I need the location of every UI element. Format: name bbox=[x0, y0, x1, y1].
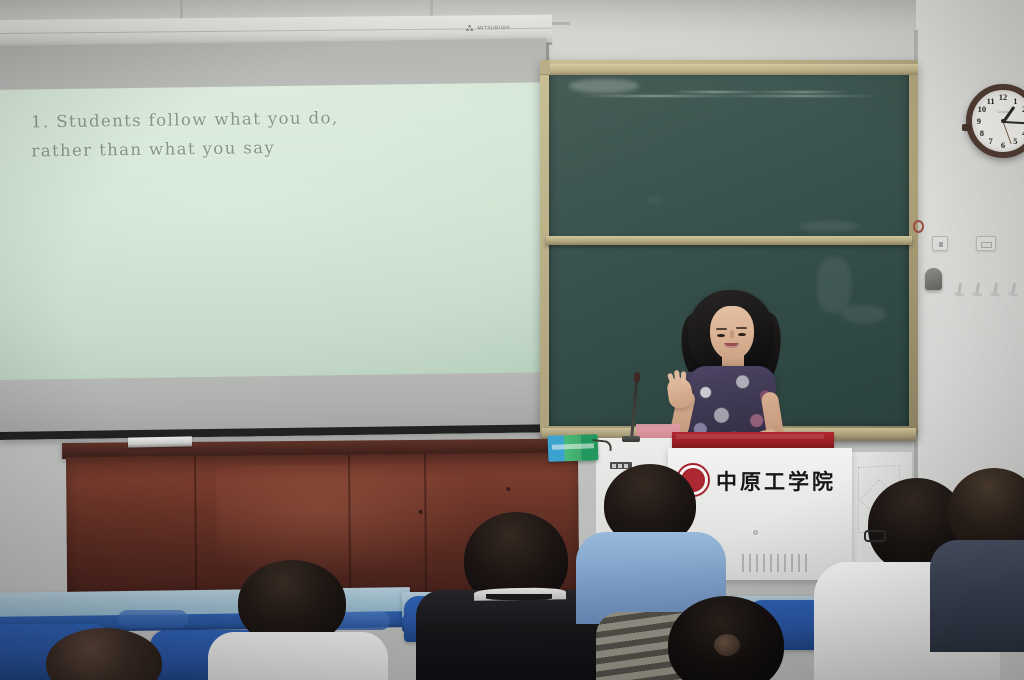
chalk-smudge bbox=[645, 197, 663, 203]
student-ponytail bbox=[648, 596, 808, 680]
classroom-photo: MITSUBISHI 1. Students follow what you d… bbox=[0, 0, 1024, 680]
clock-numeral: 8 bbox=[980, 128, 984, 138]
desk-panel-seam bbox=[194, 456, 197, 596]
microphone-capsule-icon bbox=[634, 372, 641, 383]
glasses-icon bbox=[864, 530, 886, 542]
finger bbox=[681, 371, 686, 384]
chalk-smudge bbox=[841, 305, 887, 323]
finger bbox=[674, 370, 681, 384]
coat-hook-rail bbox=[958, 283, 1024, 299]
student-torso bbox=[208, 632, 388, 680]
chalk-smear bbox=[669, 91, 849, 93]
clock-knob bbox=[962, 124, 971, 131]
clock-numeral: 5 bbox=[1013, 136, 1017, 146]
desk-knob[interactable] bbox=[418, 510, 422, 514]
clock-numeral: 11 bbox=[987, 96, 995, 106]
podium-vent-slots bbox=[742, 554, 822, 572]
projector-brand-label: MITSUBISHI bbox=[477, 25, 510, 31]
wall-outlet-plate[interactable] bbox=[932, 236, 948, 251]
slide-text: 1. Students follow what you do, rather t… bbox=[31, 101, 472, 165]
eyebrow bbox=[736, 327, 747, 329]
coat-hook-icon[interactable] bbox=[1011, 283, 1016, 296]
hair-bun bbox=[714, 634, 740, 656]
chair-seat[interactable] bbox=[118, 610, 188, 628]
student-front-left bbox=[36, 628, 172, 680]
coat-hook-icon[interactable] bbox=[993, 283, 998, 296]
wall-mounted-sensor bbox=[925, 268, 942, 290]
projection-screen: 1. Students follow what you do, rather t… bbox=[0, 38, 551, 440]
eye bbox=[738, 333, 746, 336]
paper-stack[interactable] bbox=[128, 436, 192, 447]
clock-minute-hand bbox=[1003, 121, 1024, 124]
wall-switch-plate[interactable] bbox=[976, 236, 996, 251]
chalk-smear bbox=[579, 95, 879, 97]
blackboard-side-hook-icon bbox=[913, 220, 924, 233]
coat-hook-icon[interactable] bbox=[957, 283, 962, 296]
coat-hook-icon[interactable] bbox=[975, 283, 980, 296]
blackboard-middle-rail bbox=[546, 236, 912, 245]
instructor bbox=[660, 286, 800, 456]
clock-numeral: 1 bbox=[1013, 96, 1017, 106]
mitsubishi-triangle-icon bbox=[465, 24, 474, 31]
blackboard-clip bbox=[540, 60, 550, 74]
clock-numeral: 6 bbox=[1001, 140, 1005, 150]
chalk-smudge bbox=[569, 79, 639, 93]
student-navy-right bbox=[940, 468, 1024, 648]
student-front-left-2 bbox=[214, 560, 374, 680]
collar-gap bbox=[486, 594, 552, 600]
chalk-smudge bbox=[799, 221, 859, 231]
clock-numeral: 7 bbox=[988, 136, 992, 146]
podium-screw bbox=[753, 530, 758, 535]
clock-center-pin bbox=[1001, 119, 1005, 123]
student-torso bbox=[930, 540, 1024, 652]
eyebrow bbox=[716, 328, 727, 330]
university-name: 中原工学院 bbox=[716, 466, 836, 496]
eye bbox=[717, 334, 725, 337]
podium-banner-highlight bbox=[676, 434, 824, 439]
desk-knob[interactable] bbox=[506, 487, 510, 491]
mitsubishi-logo: MITSUBISHI bbox=[465, 24, 510, 31]
nose bbox=[730, 330, 734, 338]
blackboard-top-rail bbox=[540, 64, 918, 75]
chalk-smudge bbox=[817, 257, 851, 313]
student-head bbox=[46, 628, 162, 680]
clock-numeral: 9 bbox=[977, 116, 981, 126]
clock-numeral: 12 bbox=[999, 92, 1008, 102]
clock-numeral: 10 bbox=[978, 104, 987, 114]
microphone-base bbox=[622, 436, 640, 442]
